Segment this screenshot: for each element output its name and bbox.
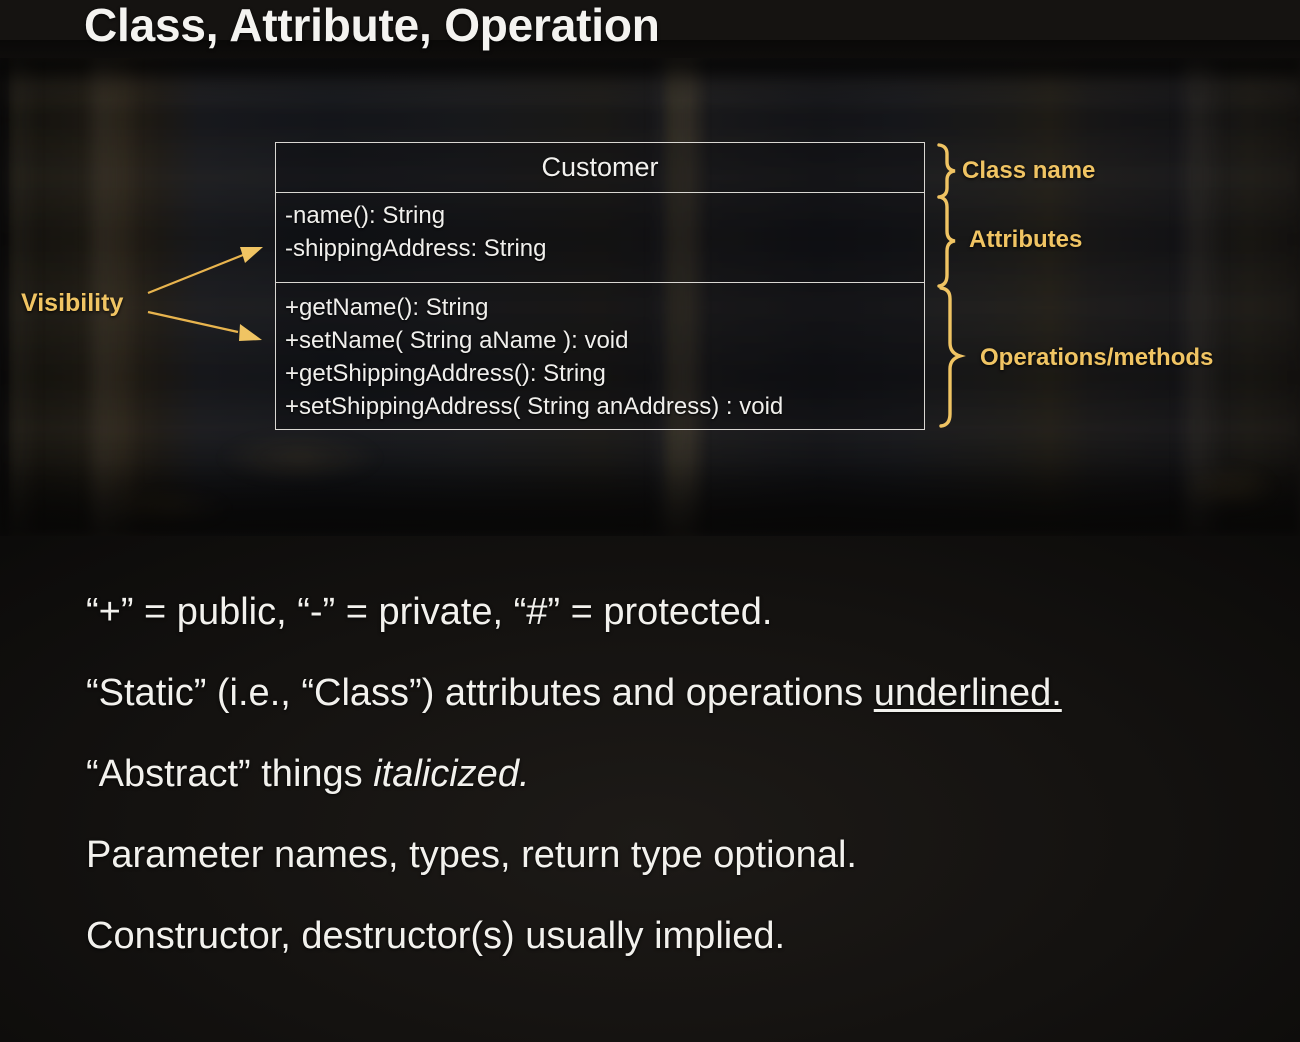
bullet-text-run: Constructor, destructor(s) usually impli… [86, 915, 785, 957]
annotation-class-name: Class name [962, 157, 1095, 185]
annotation-visibility: Visibility [21, 289, 123, 318]
bullet-item: “Abstract” things italicized. [86, 747, 1236, 802]
bullet-text-run: “Abstract” things [86, 753, 373, 795]
annotation-attributes: Attributes [969, 226, 1082, 254]
bullet-text-run: underlined. [874, 672, 1062, 714]
bullet-text-run: Parameter names, types, return type opti… [86, 834, 857, 876]
annotation-operations: Operations/methods [980, 344, 1213, 372]
operations-compartment: +getName(): String +setName( String aNam… [276, 283, 924, 423]
operation-item: +getName(): String [285, 291, 924, 324]
bullet-text-run: “Static” (i.e., “Class”) attributes and … [86, 672, 874, 714]
attribute-item: -shippingAddress: String [285, 232, 924, 265]
bullet-text-run: “+” = public, “-” = private, “#” = prote… [86, 591, 772, 633]
bullet-text-run: italicized. [373, 753, 529, 795]
class-name-compartment: Customer [276, 143, 924, 193]
slide-canvas: Class, Attribute, Operation Customer -na… [0, 0, 1300, 1042]
page-title: Class, Attribute, Operation [84, 0, 660, 52]
uml-class-box: Customer -name(): String -shippingAddres… [275, 142, 925, 430]
operation-item: +setName( String aName ): void [285, 324, 924, 357]
attribute-item: -name(): String [285, 199, 924, 232]
operation-item: +getShippingAddress(): String [285, 357, 924, 390]
bullet-item: “+” = public, “-” = private, “#” = prote… [86, 585, 1236, 640]
operation-item: +setShippingAddress( String anAddress) :… [285, 390, 924, 423]
bullet-item: “Static” (i.e., “Class”) attributes and … [86, 666, 1236, 721]
class-name-text: Customer [541, 152, 658, 183]
bullet-item: Parameter names, types, return type opti… [86, 828, 1236, 883]
bullet-item: Constructor, destructor(s) usually impli… [86, 909, 1236, 964]
bullet-list: “+” = public, “-” = private, “#” = prote… [86, 585, 1236, 964]
attributes-compartment: -name(): String -shippingAddress: String [276, 193, 924, 283]
